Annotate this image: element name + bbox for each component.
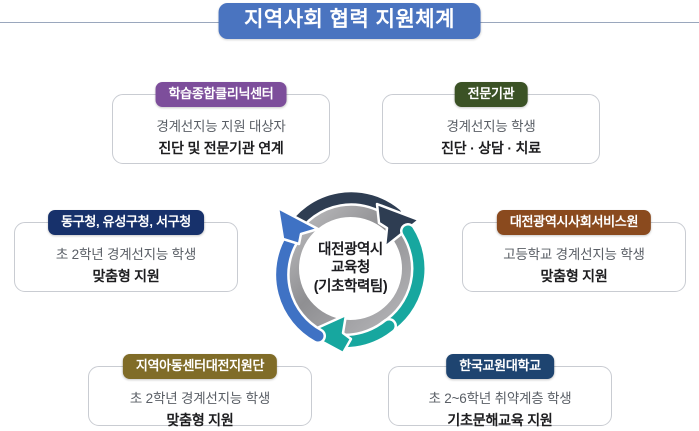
- page-title: 지역사회 협력 지원체계: [218, 3, 481, 39]
- card-line1: 초 2학년 경계선지능 학생: [95, 389, 305, 409]
- card-line2: 기초문해교육 지원: [395, 410, 605, 430]
- diagram-canvas: 지역사회 협력 지원체계: [0, 0, 699, 431]
- card-line2: 진단 · 상담 · 치료: [389, 138, 593, 158]
- card-line1: 경계선지능 학생: [389, 117, 593, 137]
- card-line1: 초 2학년 경계선지능 학생: [21, 245, 231, 265]
- card-community-child-center-daejeon[interactable]: 지역아동센터대전지원단 초 2학년 경계선지능 학생 맞춤형 지원: [88, 366, 312, 426]
- card-line2: 맞춤형 지원: [95, 410, 305, 430]
- card-line2: 진단 및 전문기관 연계: [119, 138, 323, 158]
- card-learning-clinic-center[interactable]: 학습종합클리닉센터 경계선지능 지원 대상자 진단 및 전문기관 연계: [112, 94, 330, 164]
- card-header-learning-clinic-center: 학습종합클리닉센터: [156, 82, 287, 107]
- card-korea-national-university-of-education[interactable]: 한국교원대학교 초 2~6학년 취약계층 학생 기초문해교육 지원: [388, 366, 612, 426]
- card-body-district-offices: 초 2학년 경계선지능 학생 맞춤형 지원: [15, 245, 237, 286]
- card-header-community-child-center-daejeon: 지역아동센터대전지원단: [123, 354, 277, 379]
- card-line1: 초 2~6학년 취약계층 학생: [395, 389, 605, 409]
- central-cycle: 대전광역시 교육청 (기초학력팀): [258, 176, 443, 361]
- card-line1: 고등학교 경계선지능 학생: [469, 245, 679, 265]
- card-header-korea-national-university-of-education: 한국교원대학교: [446, 354, 554, 379]
- card-line2: 맞춤형 지원: [21, 266, 231, 286]
- card-specialist-agency[interactable]: 전문기관 경계선지능 학생 진단 · 상담 · 치료: [382, 94, 600, 164]
- card-body-specialist-agency: 경계선지능 학생 진단 · 상담 · 치료: [383, 117, 599, 158]
- card-line1: 경계선지능 지원 대상자: [119, 117, 323, 137]
- card-body-community-child-center-daejeon: 초 2학년 경계선지능 학생 맞춤형 지원: [89, 389, 311, 430]
- card-header-specialist-agency: 전문기관: [455, 82, 528, 107]
- card-header-district-offices: 동구청, 유성구청, 서구청: [48, 210, 204, 235]
- card-body-korea-national-university-of-education: 초 2~6학년 취약계층 학생 기초문해교육 지원: [389, 389, 611, 430]
- card-header-daejeon-social-service-agency: 대전광역시사회서비스원: [497, 210, 651, 235]
- card-body-learning-clinic-center: 경계선지능 지원 대상자 진단 및 전문기관 연계: [113, 117, 329, 158]
- card-body-daejeon-social-service-agency: 고등학교 경계선지능 학생 맞춤형 지원: [463, 245, 685, 286]
- card-line2: 맞춤형 지원: [469, 266, 679, 286]
- card-district-offices[interactable]: 동구청, 유성구청, 서구청 초 2학년 경계선지능 학생 맞춤형 지원: [14, 222, 238, 292]
- card-daejeon-social-service-agency[interactable]: 대전광역시사회서비스원 고등학교 경계선지능 학생 맞춤형 지원: [462, 222, 686, 292]
